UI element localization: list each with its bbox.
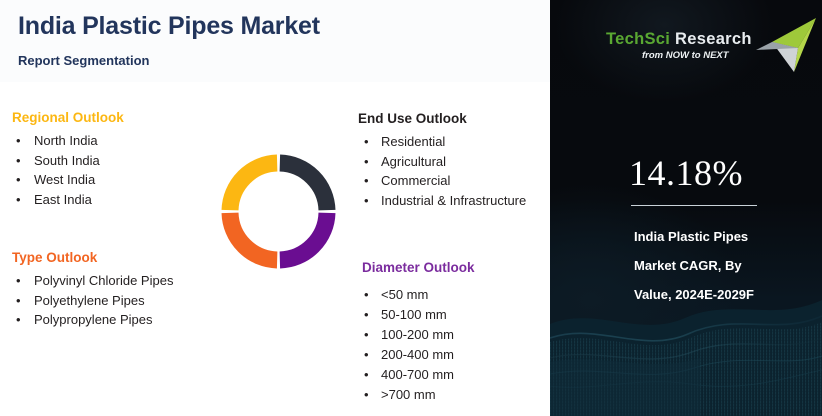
list-item: •Residential — [356, 132, 526, 152]
company-logo: TechSci Research from NOW to NEXT — [550, 22, 822, 82]
list-item-label: Polyethylene Pipes — [34, 293, 145, 308]
donut-chart — [220, 153, 337, 270]
list-item-label: 100-200 mm — [381, 327, 454, 342]
list-item-label: Industrial & Infrastructure — [381, 193, 526, 208]
bullet-icon: • — [16, 271, 21, 291]
list-item: •Industrial & Infrastructure — [356, 191, 526, 211]
section-end-use-outlook: End Use Outlook •Residential •Agricultur… — [356, 111, 526, 210]
list-type-outlook: •Polyvinyl Chloride Pipes •Polyethylene … — [6, 271, 173, 330]
list-item-label: Residential — [381, 134, 445, 149]
list-item: •400-700 mm — [356, 365, 475, 385]
section-heading-type: Type Outlook — [6, 250, 173, 265]
section-regional-outlook: Regional Outlook •North India •South Ind… — [6, 110, 124, 209]
list-item: •Agricultural — [356, 152, 526, 172]
list-item-label: <50 mm — [381, 287, 428, 302]
bullet-icon: • — [16, 291, 21, 311]
list-item-label: South India — [34, 153, 100, 168]
list-item: •<50 mm — [356, 285, 475, 305]
list-item-label: >700 mm — [381, 387, 436, 402]
bullet-icon: • — [16, 170, 21, 190]
list-item: •Polypropylene Pipes — [6, 310, 173, 330]
list-regional-outlook: •North India •South India •West India •E… — [6, 131, 124, 209]
right-panel: TechSci Research from NOW to NEXT 14.18%… — [550, 0, 822, 416]
list-end-use-outlook: •Residential •Agricultural •Commercial •… — [356, 132, 526, 210]
list-item-label: Polypropylene Pipes — [34, 312, 153, 327]
bullet-icon: • — [16, 190, 21, 210]
logo-wordmark: TechSci Research — [606, 30, 752, 49]
bullet-icon: • — [364, 385, 369, 405]
list-item-label: 200-400 mm — [381, 347, 454, 362]
infographic-root: India Plastic Pipes Market Report Segmen… — [0, 0, 822, 416]
bullet-icon: • — [16, 151, 21, 171]
donut-segment — [230, 163, 277, 210]
main-content-area: India Plastic Pipes Market Report Segmen… — [0, 0, 550, 416]
section-diameter-outlook: Diameter Outlook •<50 mm •50-100 mm •100… — [356, 260, 475, 405]
list-item: •>700 mm — [356, 385, 475, 405]
list-item: •Commercial — [356, 171, 526, 191]
list-item: •South India — [6, 151, 124, 171]
cagr-caption-line: Value, 2024E-2029F — [634, 280, 814, 309]
logo-word-secondary: Research — [675, 30, 752, 48]
section-heading-regional: Regional Outlook — [6, 110, 124, 125]
cagr-caption-line: Market CAGR, By — [634, 251, 814, 280]
logo-tagline: from NOW to NEXT — [642, 50, 729, 61]
donut-segment — [230, 213, 277, 260]
bullet-icon: • — [16, 131, 21, 151]
cagr-value: 14.18% — [550, 152, 822, 194]
list-item: •West India — [6, 170, 124, 190]
list-item: •100-200 mm — [356, 325, 475, 345]
section-heading-end-use: End Use Outlook — [356, 111, 526, 126]
donut-segment — [280, 163, 327, 210]
list-item-label: East India — [34, 192, 92, 207]
cagr-divider — [631, 205, 757, 206]
bullet-icon: • — [364, 132, 369, 152]
cagr-caption-line: India Plastic Pipes — [634, 222, 814, 251]
list-item: •North India — [6, 131, 124, 151]
list-item-label: Agricultural — [381, 154, 446, 169]
list-item-label: 400-700 mm — [381, 367, 454, 382]
bullet-icon: • — [364, 345, 369, 365]
bullet-icon: • — [16, 310, 21, 330]
bullet-icon: • — [364, 152, 369, 172]
bullet-icon: • — [364, 191, 369, 211]
list-item: •200-400 mm — [356, 345, 475, 365]
donut-segment — [280, 213, 327, 260]
list-item-label: West India — [34, 172, 95, 187]
list-item-label: Polyvinyl Chloride Pipes — [34, 273, 173, 288]
page-subtitle: Report Segmentation — [18, 53, 149, 68]
bullet-icon: • — [364, 171, 369, 191]
list-item: •East India — [6, 190, 124, 210]
list-item: •Polyvinyl Chloride Pipes — [6, 271, 173, 291]
list-item: •Polyethylene Pipes — [6, 291, 173, 311]
donut-segments — [230, 163, 327, 260]
bullet-icon: • — [364, 325, 369, 345]
list-diameter-outlook: •<50 mm •50-100 mm •100-200 mm •200-400 … — [356, 285, 475, 405]
list-item-label: Commercial — [381, 173, 450, 188]
page-title: India Plastic Pipes Market — [18, 12, 320, 41]
bullet-icon: • — [364, 305, 369, 325]
logo-word-primary: TechSci — [606, 30, 670, 48]
list-item-label: North India — [34, 133, 98, 148]
section-heading-diameter: Diameter Outlook — [356, 260, 475, 275]
cagr-caption: India Plastic Pipes Market CAGR, By Valu… — [634, 222, 814, 309]
bullet-icon: • — [364, 285, 369, 305]
bullet-icon: • — [364, 365, 369, 385]
list-item-label: 50-100 mm — [381, 307, 447, 322]
section-type-outlook: Type Outlook •Polyvinyl Chloride Pipes •… — [6, 250, 173, 330]
list-item: •50-100 mm — [356, 305, 475, 325]
